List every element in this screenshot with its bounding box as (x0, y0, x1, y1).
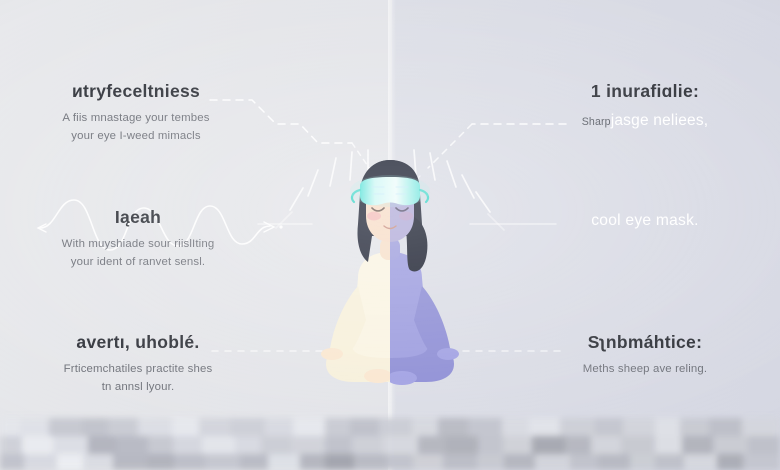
pixel-strip-cell (88, 436, 116, 454)
pixel-strip-cell (383, 436, 418, 454)
pixel-strip-cell (205, 454, 240, 470)
pixel-strip-cell (53, 436, 88, 454)
pixel-strip-cell (108, 418, 138, 436)
pixel-strip-cell (57, 454, 83, 470)
pixel-strip-cell (20, 418, 49, 436)
pixel-strip-cell (24, 454, 57, 470)
pixel-strip-cell (49, 418, 82, 436)
pixel-strip-cell (532, 436, 565, 454)
pixel-strip-cell (291, 436, 325, 454)
pixel-strip-cell (387, 454, 413, 470)
vignette-overlay (0, 0, 780, 470)
pixel-strip-cell (443, 454, 477, 470)
pixel-strip-cell (655, 454, 684, 470)
pixel-strip-cell (202, 436, 235, 454)
pixel-strip-cell (713, 436, 748, 454)
pixel-strip-cell (529, 418, 560, 436)
pixel-strip-cell (0, 436, 22, 454)
pixel-strip-cell (655, 418, 680, 436)
pixel-strip-cell (570, 454, 598, 470)
pixel-strip-cell (235, 436, 261, 454)
pixel-strip-cell (354, 454, 387, 470)
pixel-strip-cell (173, 436, 202, 454)
pixel-strip-cell (172, 418, 199, 436)
pixel-strip-cell (743, 454, 780, 470)
pixel-strip-cell (655, 436, 682, 454)
pixel-strip-cell (682, 436, 713, 454)
pixel-strip-cell (709, 418, 742, 436)
pixel-strip-cell (230, 418, 265, 436)
pixel-strip-cell (148, 436, 173, 454)
pixel-strip-cell (240, 454, 268, 470)
pixel-strip-cell (379, 418, 412, 436)
pixel-strip-cell (22, 436, 53, 454)
pixel-strip-cell (560, 418, 595, 436)
pixel-strip-cell (630, 454, 655, 470)
pixel-strip-cell (116, 436, 148, 454)
pixel-strip-cell (478, 436, 503, 454)
pixel-strip-cell (413, 454, 443, 470)
pixel-strip-row (0, 418, 780, 436)
pixel-strip-cell (325, 418, 350, 436)
pixel-strip-cell (174, 454, 205, 470)
infographic-canvas: иtryfeceltniess A fiis mnastage your tem… (0, 0, 780, 470)
pixel-strip-cell (502, 418, 529, 436)
pixel-strip-cell (438, 418, 468, 436)
pixel-strip-cell (412, 418, 438, 436)
pixel-strip-cell (742, 418, 780, 436)
pixel-strip-cell (535, 454, 570, 470)
pixel-strip-row (0, 454, 780, 470)
pixel-strip-cell (268, 454, 300, 470)
pixel-strip-cell (293, 418, 325, 436)
pixel-strip-row (0, 436, 780, 454)
pixel-strip-cell (504, 454, 535, 470)
pixel-strip-cell (623, 418, 655, 436)
pixel-strip-cell (468, 418, 502, 436)
pixel-strip-cell (0, 418, 20, 436)
pixel-strip-cell (147, 454, 174, 470)
pixel-strip-cell (684, 454, 717, 470)
pixel-strip-cell (265, 418, 293, 436)
pixel-strip-cell (598, 454, 630, 470)
pixel-strip-cell (418, 436, 446, 454)
bottom-pixel-strip (0, 418, 780, 470)
pixel-strip-cell (748, 436, 780, 454)
pixel-strip-cell (477, 454, 504, 470)
pixel-strip-cell (350, 418, 379, 436)
pixel-strip-cell (565, 436, 591, 454)
pixel-strip-cell (325, 436, 352, 454)
pixel-strip-cell (325, 454, 354, 470)
pixel-strip-cell (503, 436, 532, 454)
pixel-strip-cell (82, 418, 108, 436)
pixel-strip-cell (717, 454, 743, 470)
pixel-strip-cell (680, 418, 709, 436)
pixel-strip-cell (138, 418, 172, 436)
pixel-strip-cell (199, 418, 230, 436)
pixel-strip-cell (261, 436, 291, 454)
pixel-strip-cell (352, 436, 383, 454)
pixel-strip-cell (0, 454, 24, 470)
pixel-strip-cell (591, 436, 621, 454)
pixel-strip-cell (300, 454, 325, 470)
pixel-strip-cell (595, 418, 623, 436)
pixel-strip-cell (83, 454, 113, 470)
pixel-strip-cell (621, 436, 655, 454)
pixel-strip-cell (113, 454, 147, 470)
pixel-strip-cell (446, 436, 478, 454)
